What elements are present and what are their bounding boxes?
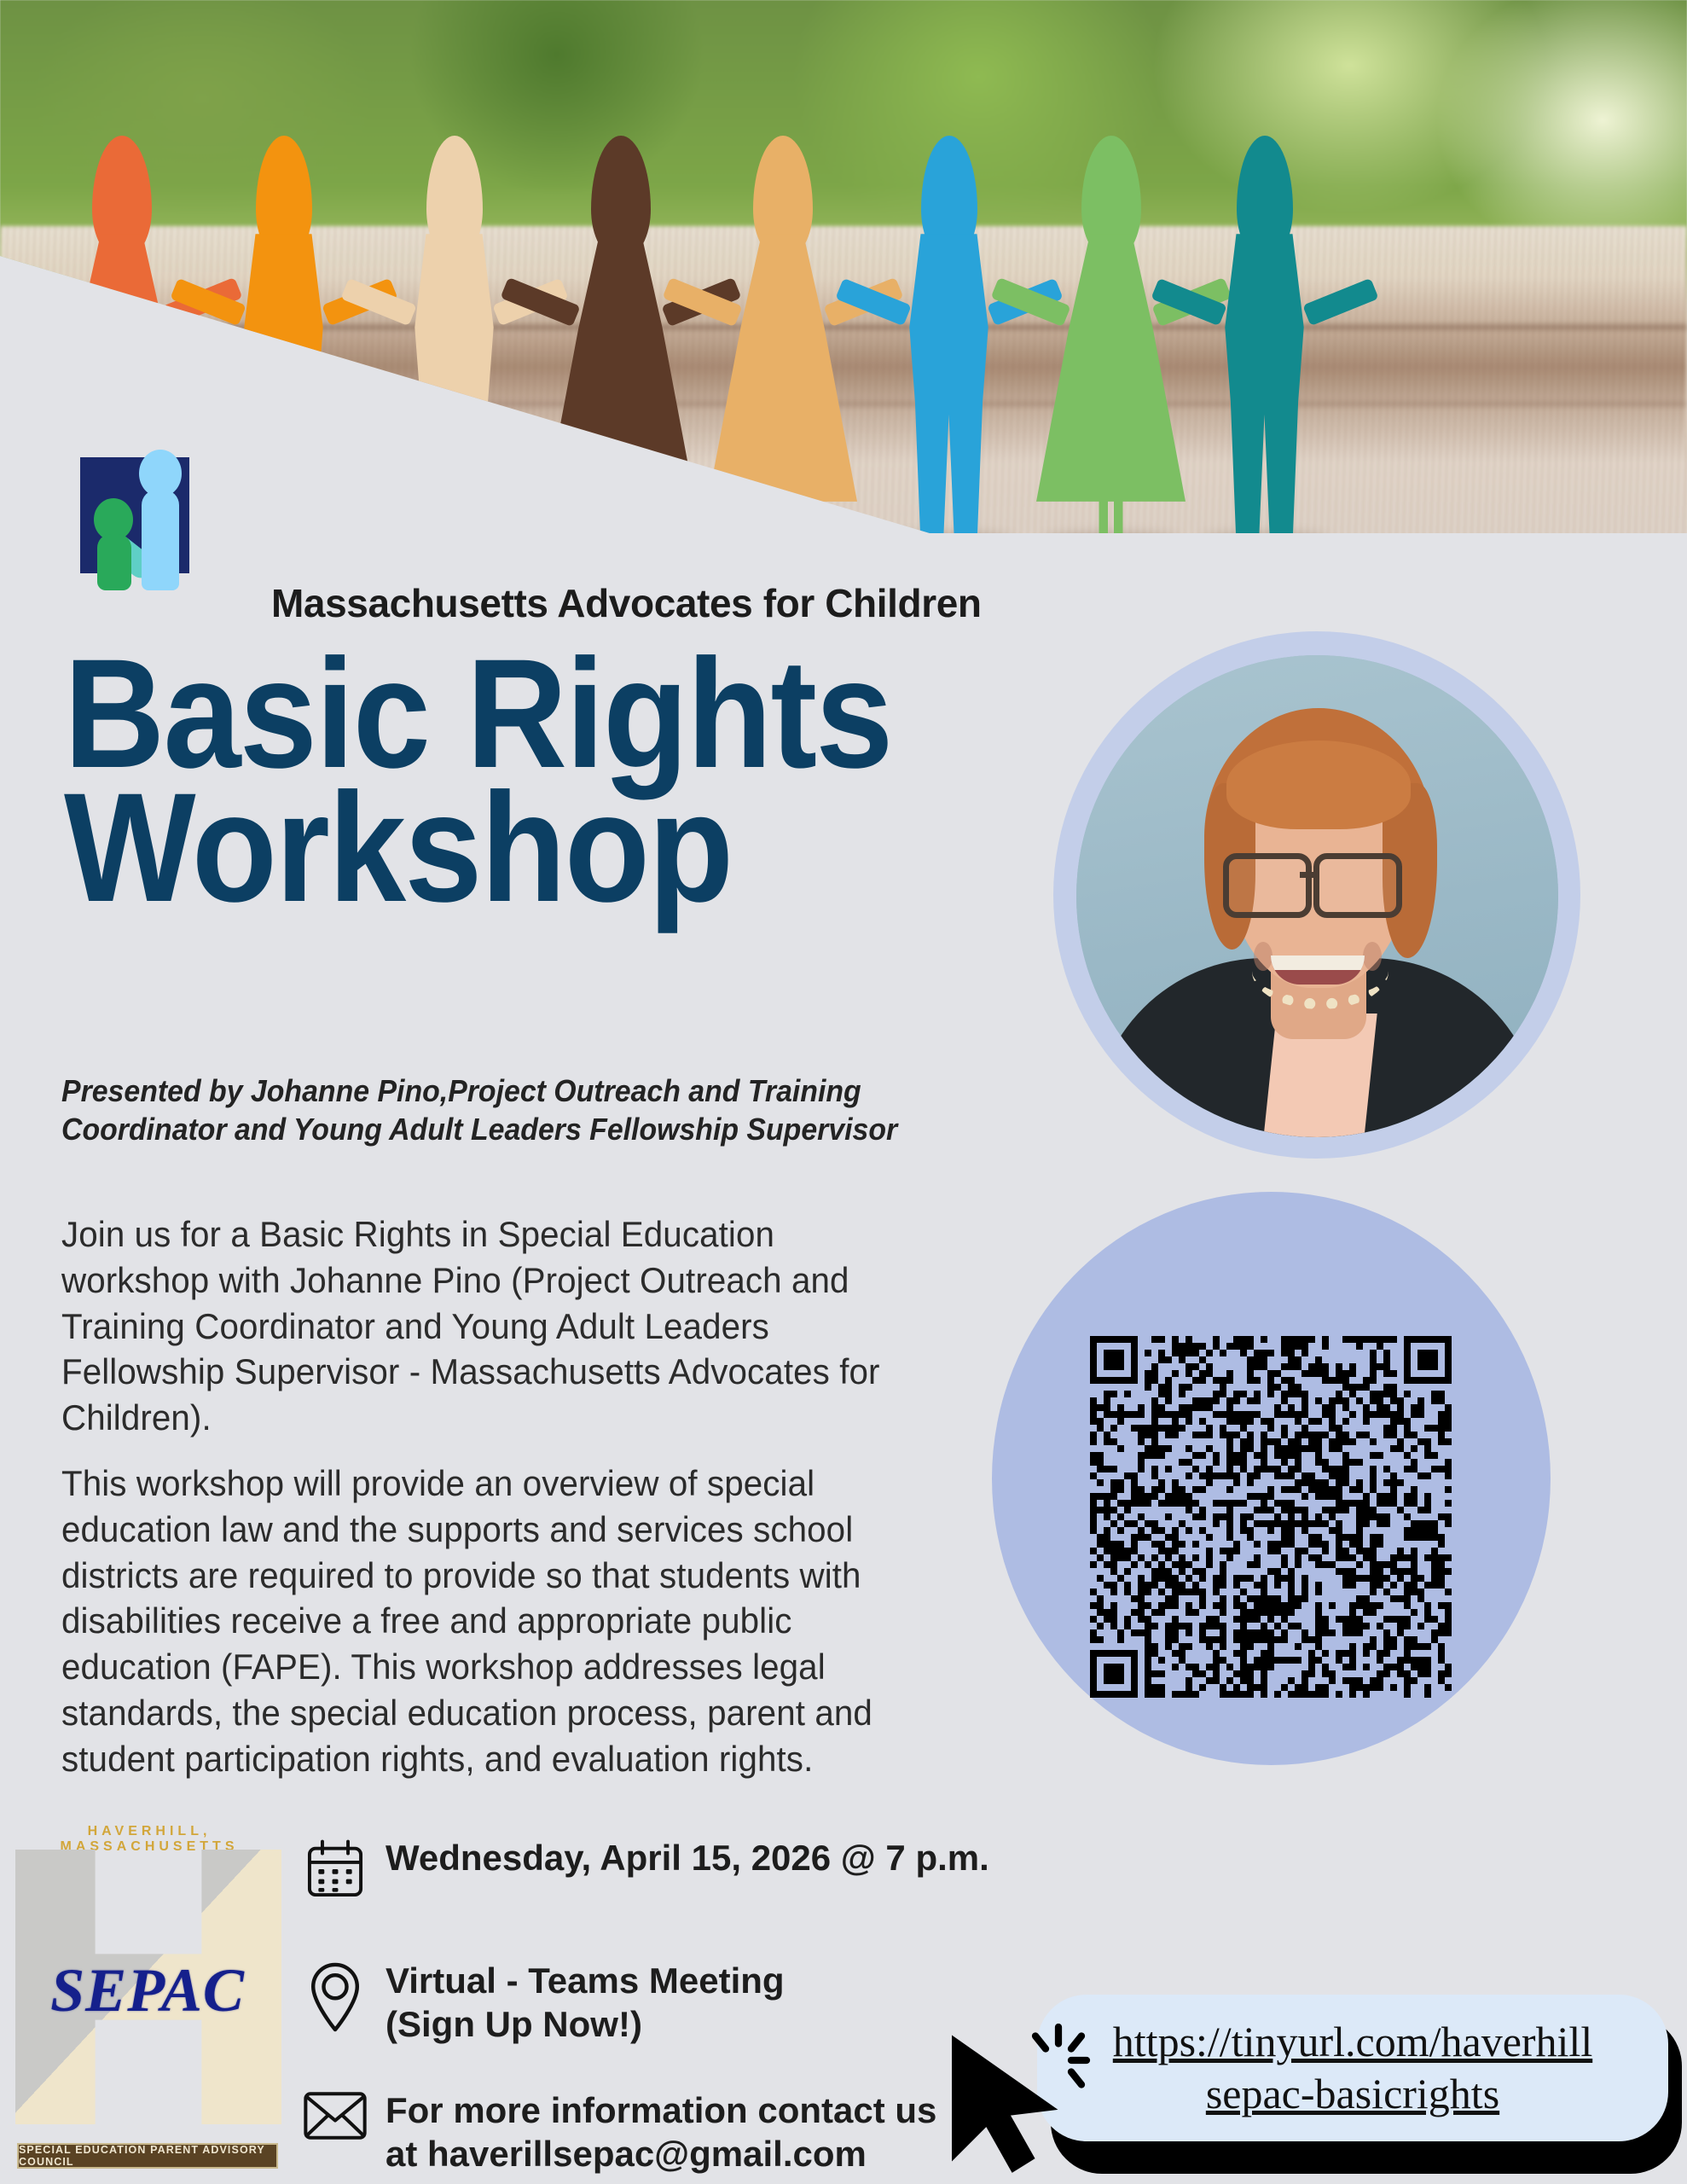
photo-glasses-left [1223,853,1312,918]
signup-url-callout[interactable]: https://tinyurl.com/haverhill sepac-basi… [1037,1995,1668,2141]
detail-location-text: Virtual - Teams Meeting (Sign Up Now!) [386,1959,785,2046]
detail-contact-text: For more information contact us at haver… [386,2088,936,2175]
calendar-icon [300,1836,370,1901]
mac-logo-icon [68,445,191,575]
signup-url-line-1[interactable]: https://tinyurl.com/haverhill [1113,2016,1592,2068]
presenter-photo [1076,655,1558,1137]
sepac-script-text: SEPAC [12,1955,283,2026]
sepac-logo: HAVERHILL, MASSACHUSETTS SEPAC SPECIAL E… [7,1819,288,2181]
description-paragraph-2: This workshop will provide an overview o… [61,1461,905,1781]
photo-cheek-left [1254,942,1272,971]
detail-row-location: Virtual - Teams Meeting (Sign Up Now!) [300,1959,785,2046]
mac-logo-adult-body [142,490,179,590]
photo-bangs [1226,741,1411,829]
paper-doll-figure [1194,136,1335,545]
qr-code[interactable] [1090,1336,1452,1698]
header-banner-image [0,0,1687,546]
detail-date-text: Wednesday, April 15, 2026 @ 7 p.m. [386,1836,989,1879]
poster-root: Massachusetts Advocates for Children Bas… [0,0,1687,2184]
description-paragraph-1: Join us for a Basic Rights in Special Ed… [61,1211,905,1441]
paper-doll-figure [878,136,1019,545]
signup-url-line-2[interactable]: sepac-basicrights [1206,2068,1499,2120]
location-pin-icon [300,1959,370,2034]
detail-row-contact: For more information contact us at haver… [300,2088,936,2175]
mac-logo-child-body [97,534,131,590]
photo-glasses-bridge [1300,872,1315,878]
photo-cheek-right [1363,942,1382,971]
presenter-line: Presented by Johanne Pino,Project Outrea… [61,1072,927,1149]
envelope-icon [300,2088,370,2141]
photo-glasses-right [1313,853,1402,918]
paper-doll-figure [546,136,695,545]
detail-row-date: Wednesday, April 15, 2026 @ 7 p.m. [300,1836,989,1901]
sepac-tagline: SPECIAL EDUCATION PARENT ADVISORY COUNCI… [19,2144,276,2168]
paper-doll-figure [708,136,857,545]
photo-mouth [1271,955,1365,985]
paper-doll-figure [213,136,354,545]
organization-name: Massachusetts Advocates for Children [271,580,982,626]
click-burst-icon [1020,2022,1097,2099]
paper-doll-figure [384,136,525,545]
paper-doll-figure [1036,136,1186,545]
page-title: Basic Rights Workshop [64,647,939,914]
sepac-tagline-bar: SPECIAL EDUCATION PARENT ADVISORY COUNCI… [17,2143,278,2169]
